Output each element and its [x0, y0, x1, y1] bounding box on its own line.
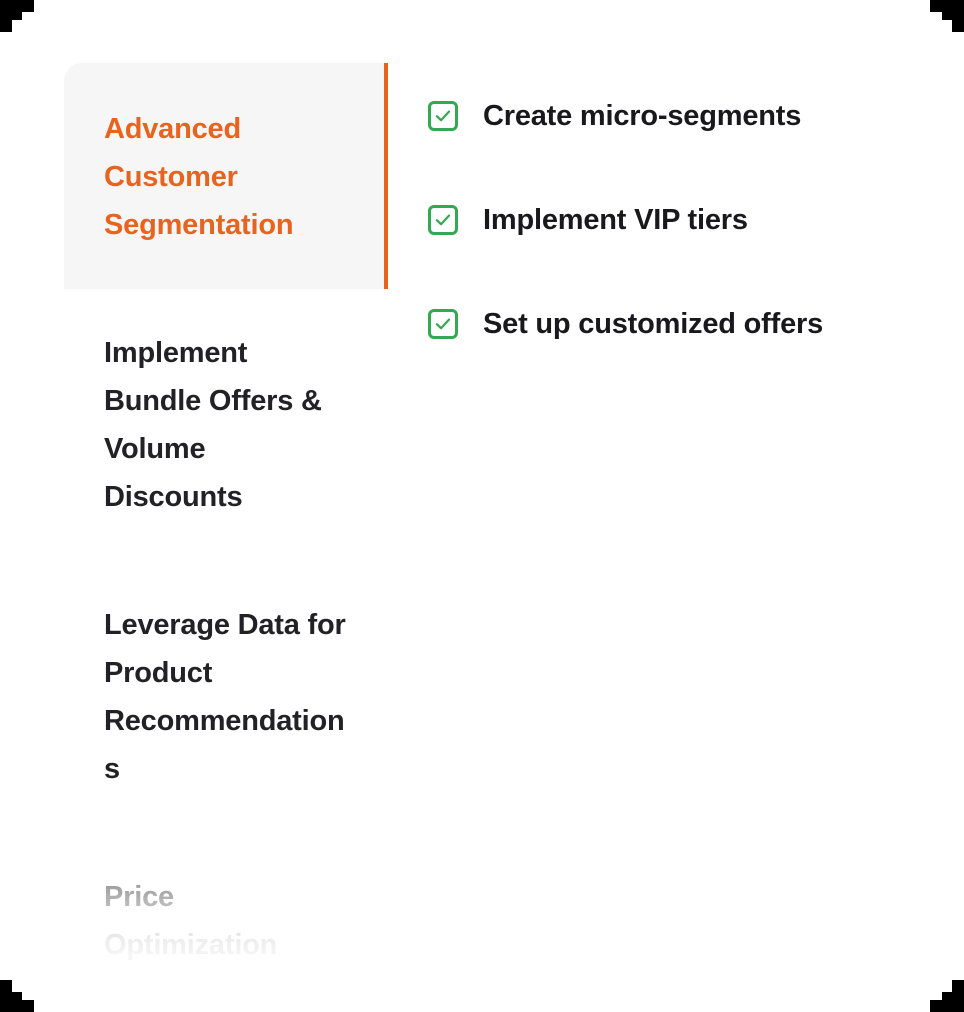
checkbox-checked-icon[interactable] [428, 309, 458, 339]
tab-label: Implement Bundle Offers & Volume Discoun… [104, 337, 322, 513]
strategy-tab-list: Advanced Customer Segmentation Implement… [64, 63, 388, 943]
screenshot-stage: Advanced Customer Segmentation Implement… [0, 0, 964, 1012]
tab-implement-bundle-offers[interactable]: Implement Bundle Offers & Volume Discoun… [64, 289, 388, 561]
checklist-item[interactable]: Create micro-segments [428, 92, 898, 140]
active-tab-checklist: Create micro-segments Implement VIP tier… [428, 92, 898, 404]
checklist-item-label: Set up customized offers [483, 300, 823, 348]
tab-label: Leverage Data for Product Recommendation… [104, 609, 346, 785]
checkbox-checked-icon[interactable] [428, 205, 458, 235]
checkbox-checked-icon[interactable] [428, 101, 458, 131]
checklist-item-label: Implement VIP tiers [483, 196, 748, 244]
tab-advanced-customer-segmentation[interactable]: Advanced Customer Segmentation [64, 63, 388, 289]
checklist-item[interactable]: Set up customized offers [428, 300, 898, 348]
checklist-item[interactable]: Implement VIP tiers [428, 196, 898, 244]
tab-panel-layout: Advanced Customer Segmentation Implement… [0, 0, 964, 1012]
checklist-item-label: Create micro-segments [483, 92, 801, 140]
tab-label: Advanced Customer Segmentation [104, 113, 293, 241]
tab-leverage-data-for-product-recommendations[interactable]: Leverage Data for Product Recommendation… [64, 561, 388, 833]
tab-label: Price Optimization [104, 881, 277, 961]
tab-price-optimization[interactable]: Price Optimization [64, 833, 388, 1009]
active-tab-accent-bar [384, 63, 388, 289]
